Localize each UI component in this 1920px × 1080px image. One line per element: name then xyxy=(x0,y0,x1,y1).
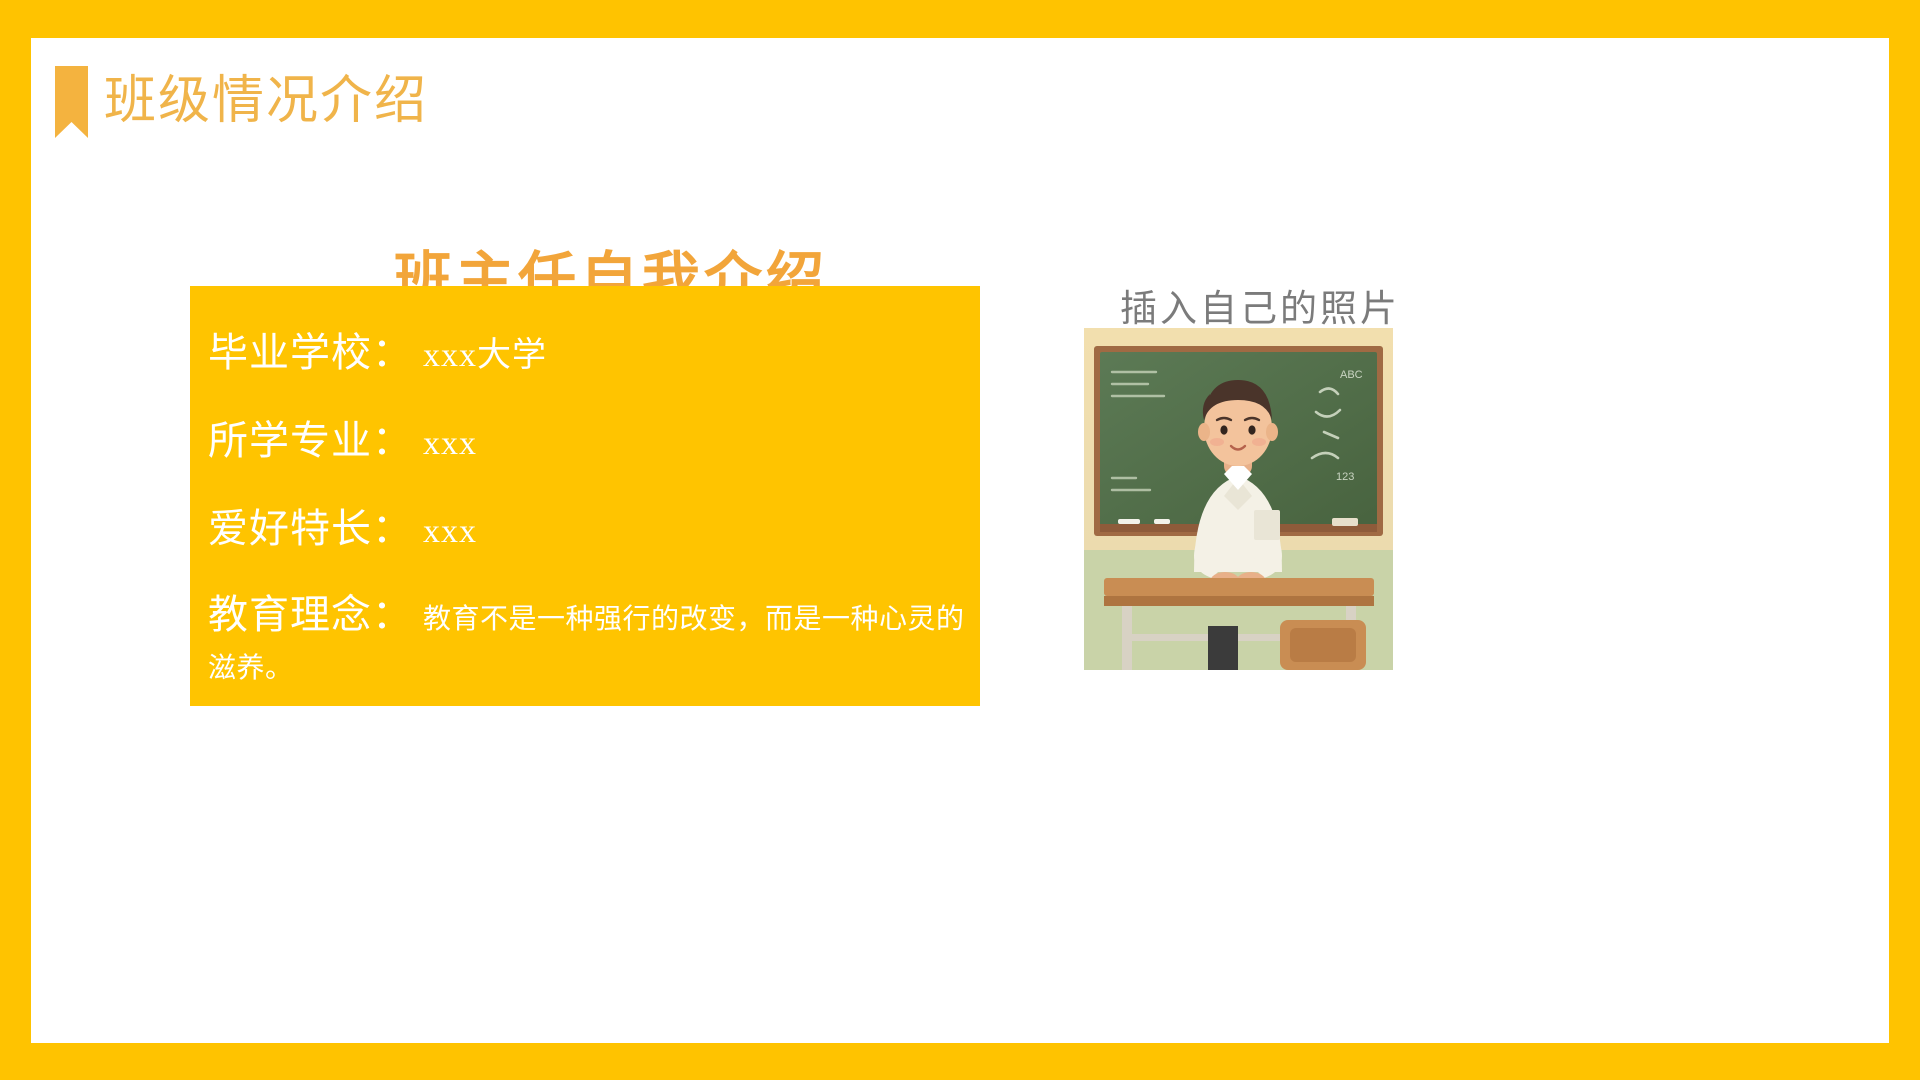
slide-canvas: 班级情况介绍 班主任自我介绍 毕业学校：xxx大学 所学专业：xxx 爱好特长：… xyxy=(31,38,1889,1043)
header-title: 班级情况介绍 xyxy=(104,76,428,128)
teacher-classroom-illustration: ABC 123 xyxy=(1084,328,1393,670)
svg-text:ABC: ABC xyxy=(1340,369,1363,381)
info-row-major: 所学专业：xxx xyxy=(208,408,980,466)
info-card: 毕业学校：xxx大学 所学专业：xxx 爱好特长：xxx 教育理念：教育不是一种… xyxy=(190,286,980,706)
info-label-hobby: 爱好特长： xyxy=(208,507,413,551)
svg-text:123: 123 xyxy=(1336,471,1354,483)
info-value-school: xxx大学 xyxy=(423,337,547,374)
bookmark-icon xyxy=(55,66,88,138)
info-value-major: xxx xyxy=(423,425,477,462)
photo-placeholder[interactable]: ABC 123 xyxy=(1084,328,1393,670)
info-value-hobby: xxx xyxy=(423,513,477,550)
info-label-major: 所学专业： xyxy=(208,419,413,463)
info-row-hobby: 爱好特长：xxx xyxy=(208,496,980,554)
info-row-school: 毕业学校：xxx大学 xyxy=(208,320,980,378)
info-label-school: 毕业学校： xyxy=(208,331,413,375)
photo-caption: 插入自己的照片 xyxy=(1095,278,1425,332)
info-label-philosophy: 教育理念： xyxy=(208,593,413,637)
info-row-philosophy: 教育理念：教育不是一种强行的改变，而是一种心灵的滋养。 xyxy=(208,584,980,689)
header: 班级情况介绍 xyxy=(55,66,428,138)
